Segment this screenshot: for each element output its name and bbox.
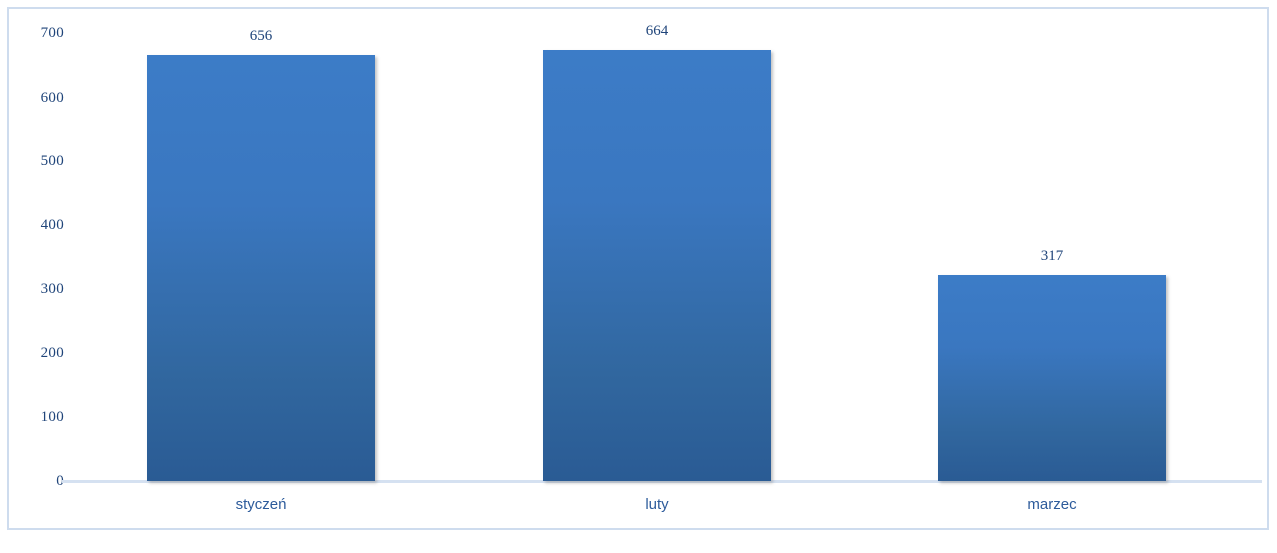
y-axis-tick-700: 700 <box>16 25 64 42</box>
bar-value-styczen: 656 <box>147 28 375 45</box>
bar-chart: 700 600 500 400 300 200 100 0 656 664 31… <box>0 0 1277 553</box>
y-axis-tick-100: 100 <box>16 409 64 426</box>
y-axis-tick-0: 0 <box>16 473 64 490</box>
category-label-styczen: styczeń <box>147 496 375 513</box>
y-axis-tick-500: 500 <box>16 153 64 170</box>
plot-area: 700 600 500 400 300 200 100 0 656 664 31… <box>0 0 1277 553</box>
y-axis-tick-400: 400 <box>16 217 64 234</box>
y-axis-tick-600: 600 <box>16 90 64 107</box>
y-axis-tick-200: 200 <box>16 345 64 362</box>
bar-styczen[interactable] <box>147 55 375 481</box>
category-label-marzec: marzec <box>938 496 1166 513</box>
bar-marzec[interactable] <box>938 275 1166 481</box>
bar-luty[interactable] <box>543 50 771 481</box>
y-axis-tick-300: 300 <box>16 281 64 298</box>
bar-value-marzec: 317 <box>938 248 1166 265</box>
bar-value-luty: 664 <box>543 23 771 40</box>
category-label-luty: luty <box>543 496 771 513</box>
